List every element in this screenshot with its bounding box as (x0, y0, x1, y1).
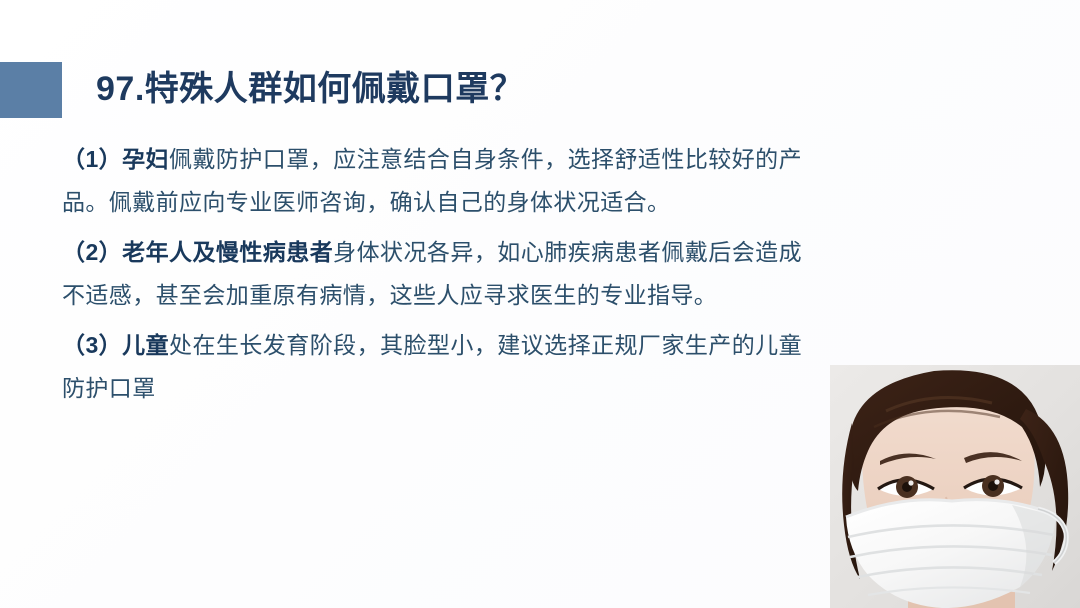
paragraph-3-text: 处在生长发育阶段，其脸型小，建议选择正规厂家生产的儿童防护口罩 (62, 332, 802, 401)
masked-woman-illustration (830, 365, 1080, 608)
title-accent-square (0, 62, 62, 118)
paragraph-1-text: 佩戴防护口罩，应注意结合自身条件，选择舒适性比较好的产品。佩戴前应向专业医师咨询… (62, 146, 802, 215)
slide-canvas: 97.特殊人群如何佩戴口罩？ （1）孕妇佩戴防护口罩，应注意结合自身条件，选择舒… (0, 0, 1080, 608)
paragraph-2-lead: （2）老年人及慢性病患者 (62, 239, 333, 265)
paragraph-1-lead: （1）孕妇 (62, 146, 169, 172)
paragraph-1: （1）孕妇佩戴防护口罩，应注意结合自身条件，选择舒适性比较好的产品。佩戴前应向专… (62, 138, 802, 224)
paragraph-3-lead: （3）儿童 (62, 332, 169, 358)
masked-woman-photo (830, 365, 1080, 608)
paragraph-3: （3）儿童处在生长发育阶段，其脸型小，建议选择正规厂家生产的儿童防护口罩 (62, 324, 802, 410)
body-content: （1）孕妇佩戴防护口罩，应注意结合自身条件，选择舒适性比较好的产品。佩戴前应向专… (62, 138, 802, 417)
page-title: 97.特殊人群如何佩戴口罩？ (96, 66, 524, 112)
paragraph-2: （2）老年人及慢性病患者身体状况各异，如心肺疾病患者佩戴后会造成不适感，甚至会加… (62, 231, 802, 317)
